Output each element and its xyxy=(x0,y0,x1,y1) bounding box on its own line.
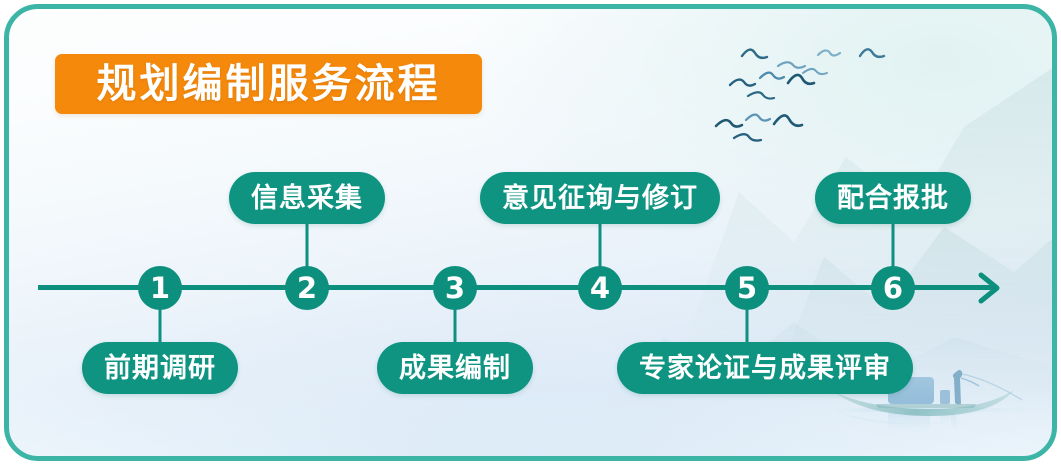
page-title: 规划编制服务流程 xyxy=(97,64,441,104)
step-connector-6 xyxy=(892,222,895,272)
step-node-3[interactable]: 3 xyxy=(433,266,477,310)
step-label-pill-4[interactable]: 意见征询与修订 xyxy=(480,172,720,224)
step-label-6: 配合报批 xyxy=(837,185,949,212)
step-node-5[interactable]: 5 xyxy=(725,266,769,310)
step-node-4[interactable]: 4 xyxy=(578,266,622,310)
step-connector-4 xyxy=(599,222,602,272)
step-number-5: 5 xyxy=(737,274,757,303)
step-label-pill-5[interactable]: 专家论证与成果评审 xyxy=(617,342,913,394)
timeline-arrow-icon xyxy=(975,270,1011,306)
step-node-6[interactable]: 6 xyxy=(871,266,915,310)
step-number-1: 1 xyxy=(150,274,170,303)
title-banner: 规划编制服务流程 xyxy=(55,54,482,114)
step-number-4: 4 xyxy=(590,274,610,303)
step-number-2: 2 xyxy=(297,274,317,303)
step-connector-2 xyxy=(306,222,309,272)
step-label-2: 信息采集 xyxy=(251,185,363,212)
step-number-6: 6 xyxy=(883,274,903,303)
step-node-2[interactable]: 2 xyxy=(285,266,329,310)
step-label-4: 意见征询与修订 xyxy=(502,185,698,212)
step-label-3: 成果编制 xyxy=(399,355,511,382)
planning-process-infographic: 1 前期调研 2 信息采集 3 成果编制 4 意见征询与修订 5 专家论证与成果… xyxy=(0,0,1061,465)
step-node-1[interactable]: 1 xyxy=(138,266,182,310)
step-number-3: 3 xyxy=(445,274,465,303)
step-label-5: 专家论证与成果评审 xyxy=(639,355,891,382)
step-label-pill-2[interactable]: 信息采集 xyxy=(229,172,385,224)
step-label-pill-3[interactable]: 成果编制 xyxy=(377,342,533,394)
step-label-1: 前期调研 xyxy=(104,355,216,382)
step-label-pill-6[interactable]: 配合报批 xyxy=(815,172,971,224)
step-label-pill-1[interactable]: 前期调研 xyxy=(82,342,238,394)
